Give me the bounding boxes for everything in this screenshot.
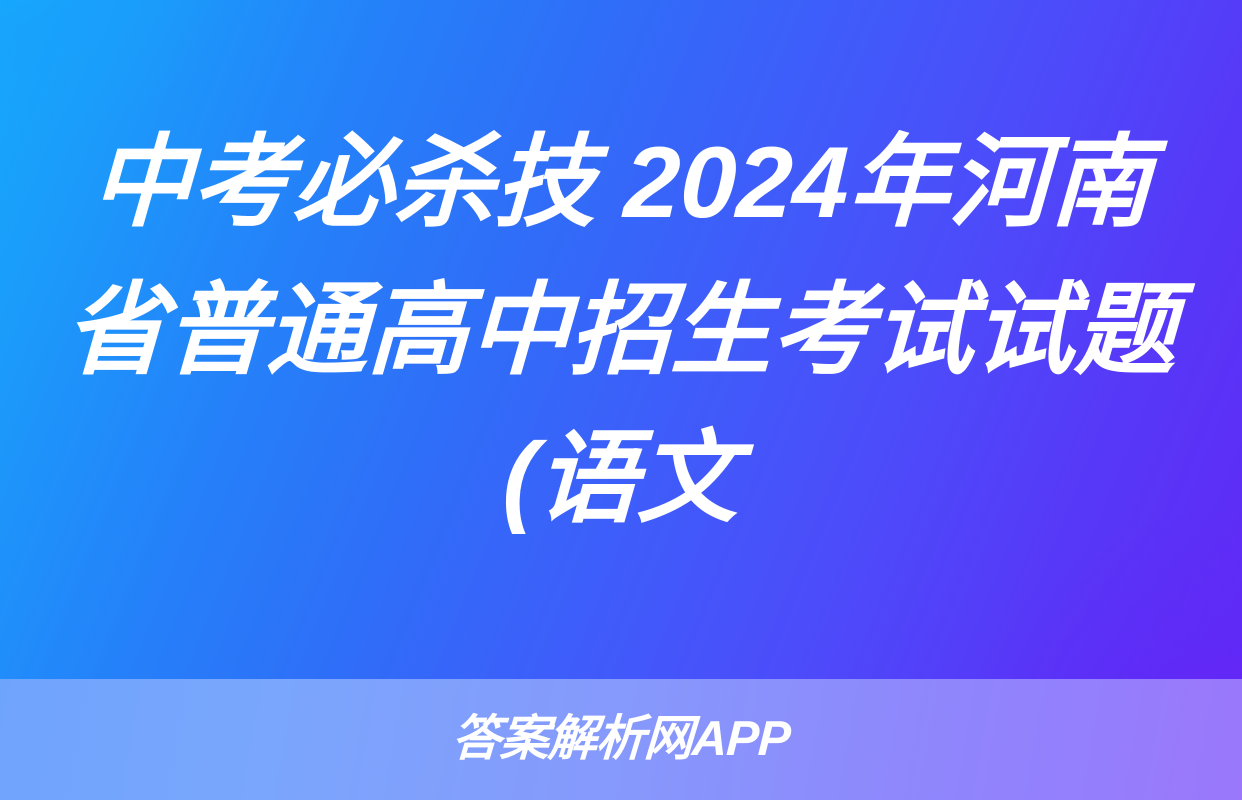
watermark-bar: 答案解析网APP bbox=[0, 679, 1242, 800]
headline-block: 中考必杀技 2024年河南 省普通高中招生考试试题 (语文 bbox=[0, 0, 1242, 679]
headline-line-2: 省普通高中招生考试试题 bbox=[63, 257, 1179, 405]
watermark-text: 答案解析网APP bbox=[451, 715, 791, 764]
headline-line-3: (语文 bbox=[501, 405, 742, 553]
headline-line-1: 中考必杀技 2024年河南 bbox=[88, 109, 1154, 257]
poster-image: 中考必杀技 2024年河南 省普通高中招生考试试题 (语文 答案解析网APP bbox=[0, 0, 1242, 800]
